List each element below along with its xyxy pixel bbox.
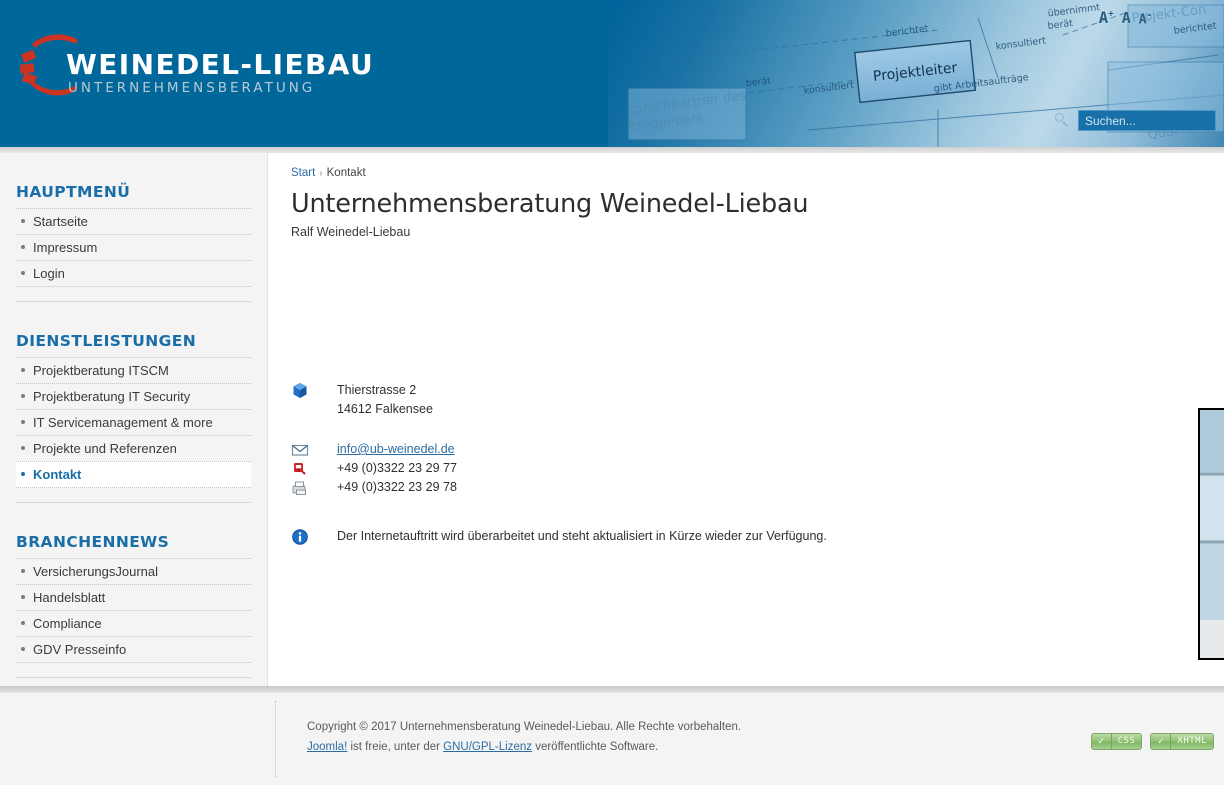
svg-text:konsultiert: konsultiert [995,35,1047,52]
sidebar-link[interactable]: Compliance [16,611,251,636]
font-size-controls[interactable]: A+ A A- [1099,10,1152,26]
css-badge-label: CSS [1112,734,1142,749]
sidebar-item-gdv-presseinfo[interactable]: GDV Presseinfo [16,636,251,663]
gnu-gpl-link[interactable]: GNU/GPL-Lizenz [443,741,532,753]
breadcrumb-home-link[interactable]: Start [291,167,315,179]
sidebar-menu-list: Startseite Impressum Login [16,208,251,287]
font-increase-button[interactable]: A+ [1099,10,1114,26]
breadcrumb-current: Kontakt [327,167,366,179]
search-icon [1055,113,1070,128]
font-decrease-button[interactable]: A- [1139,12,1152,26]
sidebar-link[interactable]: Startseite [16,209,251,234]
address-text: Thierstrasse 2 14612 Falkensee [337,381,433,418]
sidebar-link[interactable]: Projektberatung ITSCM [16,358,251,383]
footer-text: Copyright © 2017 Unternehmensberatung We… [307,717,741,757]
phone-icon [291,459,337,478]
contact-details: Thierstrasse 2 14612 Falkensee info@ub-w… [291,381,911,546]
portrait-photo: WEINEDEL-LIEBAU Inhalte der Fac Strategi… [1198,408,1224,660]
sidebar-module-title: DIENSTLEISTUNGEN [16,302,251,358]
sidebar-item-projektberatung-it-security[interactable]: Projektberatung IT Security [16,383,251,410]
svg-text:berät: berät [1047,18,1074,32]
svg-text:konsultiert: konsultiert [803,80,855,97]
sidebar-module-title: BRANCHENNEWS [16,503,251,559]
sidebar-link[interactable]: Projektberatung IT Security [16,384,251,409]
xhtml-badge-label: XHTML [1171,734,1213,749]
fax-icon [291,478,337,497]
phone-row: +49 (0)3322 23 29 77 [291,459,911,478]
info-icon [291,527,337,546]
sidebar-menu-list: Projektberatung ITSCM Projektberatung IT… [16,357,251,488]
joomla-link[interactable]: Joomla! [307,741,347,753]
logo-company-name: WEINEDEL-LIEBAU [66,48,374,81]
address-line-2: 14612 Falkensee [337,400,433,419]
logo-tagline: UNTERNEHMENSBERATUNG [68,80,315,96]
sidebar-item-versicherungsjournal[interactable]: VersicherungsJournal [16,558,251,585]
sidebar-item-projektberatung-itscm[interactable]: Projektberatung ITSCM [16,357,251,384]
globe-icon [291,381,337,400]
sidebar: HAUPTMENÜ Startseite Impressum Login DIE… [0,153,268,686]
site-footer: Copyright © 2017 Unternehmensberatung We… [0,693,1224,785]
sidebar-link[interactable]: Login [16,261,251,286]
portrait-photo-image: WEINEDEL-LIEBAU Inhalte der Fac Strategi… [1200,410,1224,658]
page-root: Projektleiter berichtet konsultiert berä… [0,0,1224,785]
sidebar-item-login[interactable]: Login [16,260,251,287]
sidebar-module-dienstleistungen: DIENSTLEISTUNGEN Projektberatung ITSCM P… [16,302,251,503]
sidebar-item-projekte-und-referenzen[interactable]: Projekte und Referenzen [16,435,251,462]
email-text: info@ub-weinedel.de [337,440,455,459]
breadcrumb-separator-icon: › [315,168,326,179]
sidebar-item-it-servicemanagement[interactable]: IT Servicemanagement & more [16,409,251,436]
sidebar-link[interactable]: IT Servicemanagement & more [16,410,251,435]
address-row: Thierstrasse 2 14612 Falkensee [291,381,911,418]
xhtml-validation-badge[interactable]: ✓ XHTML [1150,733,1214,750]
validation-badges: ✓ CSS ✓ XHTML [1091,733,1214,750]
search-input[interactable] [1078,110,1216,131]
page-subtitle: Ralf Weinedel-Liebau [291,225,1194,239]
sidebar-item-handelsblatt[interactable]: Handelsblatt [16,584,251,611]
sidebar-module-hauptmenu: HAUPTMENÜ Startseite Impressum Login [16,153,251,302]
notice-text: Der Internetauftritt wird überarbeitet u… [337,527,827,546]
email-link[interactable]: info@ub-weinedel.de [337,442,455,456]
sidebar-link[interactable]: GDV Presseinfo [16,637,251,662]
search-box[interactable] [1055,110,1216,131]
sidebar-module-branchennews: BRANCHENNEWS VersicherungsJournal Handel… [16,503,251,678]
envelope-icon [291,440,337,459]
license-suffix-text: veröffentlichte Software. [532,741,658,753]
svg-text:übernimmt: übernimmt [1047,2,1101,19]
footer-divider [275,701,276,777]
sidebar-link[interactable]: Impressum [16,235,251,260]
css-validation-badge[interactable]: ✓ CSS [1091,733,1143,750]
footer-copyright: Copyright © 2017 Unternehmensberatung We… [307,717,741,737]
page-title: Unternehmensberatung Weinedel-Liebau [291,189,1194,219]
fax-text: +49 (0)3322 23 29 78 [337,478,457,497]
email-row: info@ub-weinedel.de [291,440,911,459]
main-content: Start›Kontakt Unternehmensberatung Weine… [269,153,1224,686]
phone-text: +49 (0)3322 23 29 77 [337,459,457,478]
footer-license: Joomla! ist freie, unter der GNU/GPL-Liz… [307,737,741,757]
sidebar-link[interactable]: Handelsblatt [16,585,251,610]
sidebar-link[interactable]: VersicherungsJournal [16,559,251,584]
sidebar-link[interactable]: Projekte und Referenzen [16,436,251,461]
sidebar-item-startseite[interactable]: Startseite [16,208,251,235]
license-middle-text: ist freie, unter der [347,741,443,753]
site-header: Projektleiter berichtet konsultiert berä… [0,0,1224,147]
address-line-1: Thierstrasse 2 [337,381,433,400]
fax-row: +49 (0)3322 23 29 78 [291,478,911,497]
sidebar-item-impressum[interactable]: Impressum [16,234,251,261]
breadcrumb: Start›Kontakt [291,153,1194,179]
font-normal-button[interactable]: A [1122,11,1131,26]
sidebar-item-kontakt[interactable]: Kontakt [16,461,251,488]
notice-row: Der Internetauftritt wird überarbeitet u… [291,527,911,546]
check-icon: ✓ [1092,734,1112,749]
sidebar-divider [16,677,251,678]
sidebar-menu-list: VersicherungsJournal Handelsblatt Compli… [16,558,251,663]
footer-top-rule [0,686,1224,693]
svg-text:berät: berät [745,75,772,89]
sidebar-item-compliance[interactable]: Compliance [16,610,251,637]
sidebar-module-title: HAUPTMENÜ [16,153,251,209]
sidebar-link[interactable]: Kontakt [16,462,251,487]
svg-text:berichtet: berichtet [885,23,929,39]
check-icon: ✓ [1151,734,1171,749]
site-logo[interactable]: WEINEDEL-LIEBAU UNTERNEHMENSBERATUNG [20,26,340,106]
body-wrapper: HAUPTMENÜ Startseite Impressum Login DIE… [0,153,1224,686]
